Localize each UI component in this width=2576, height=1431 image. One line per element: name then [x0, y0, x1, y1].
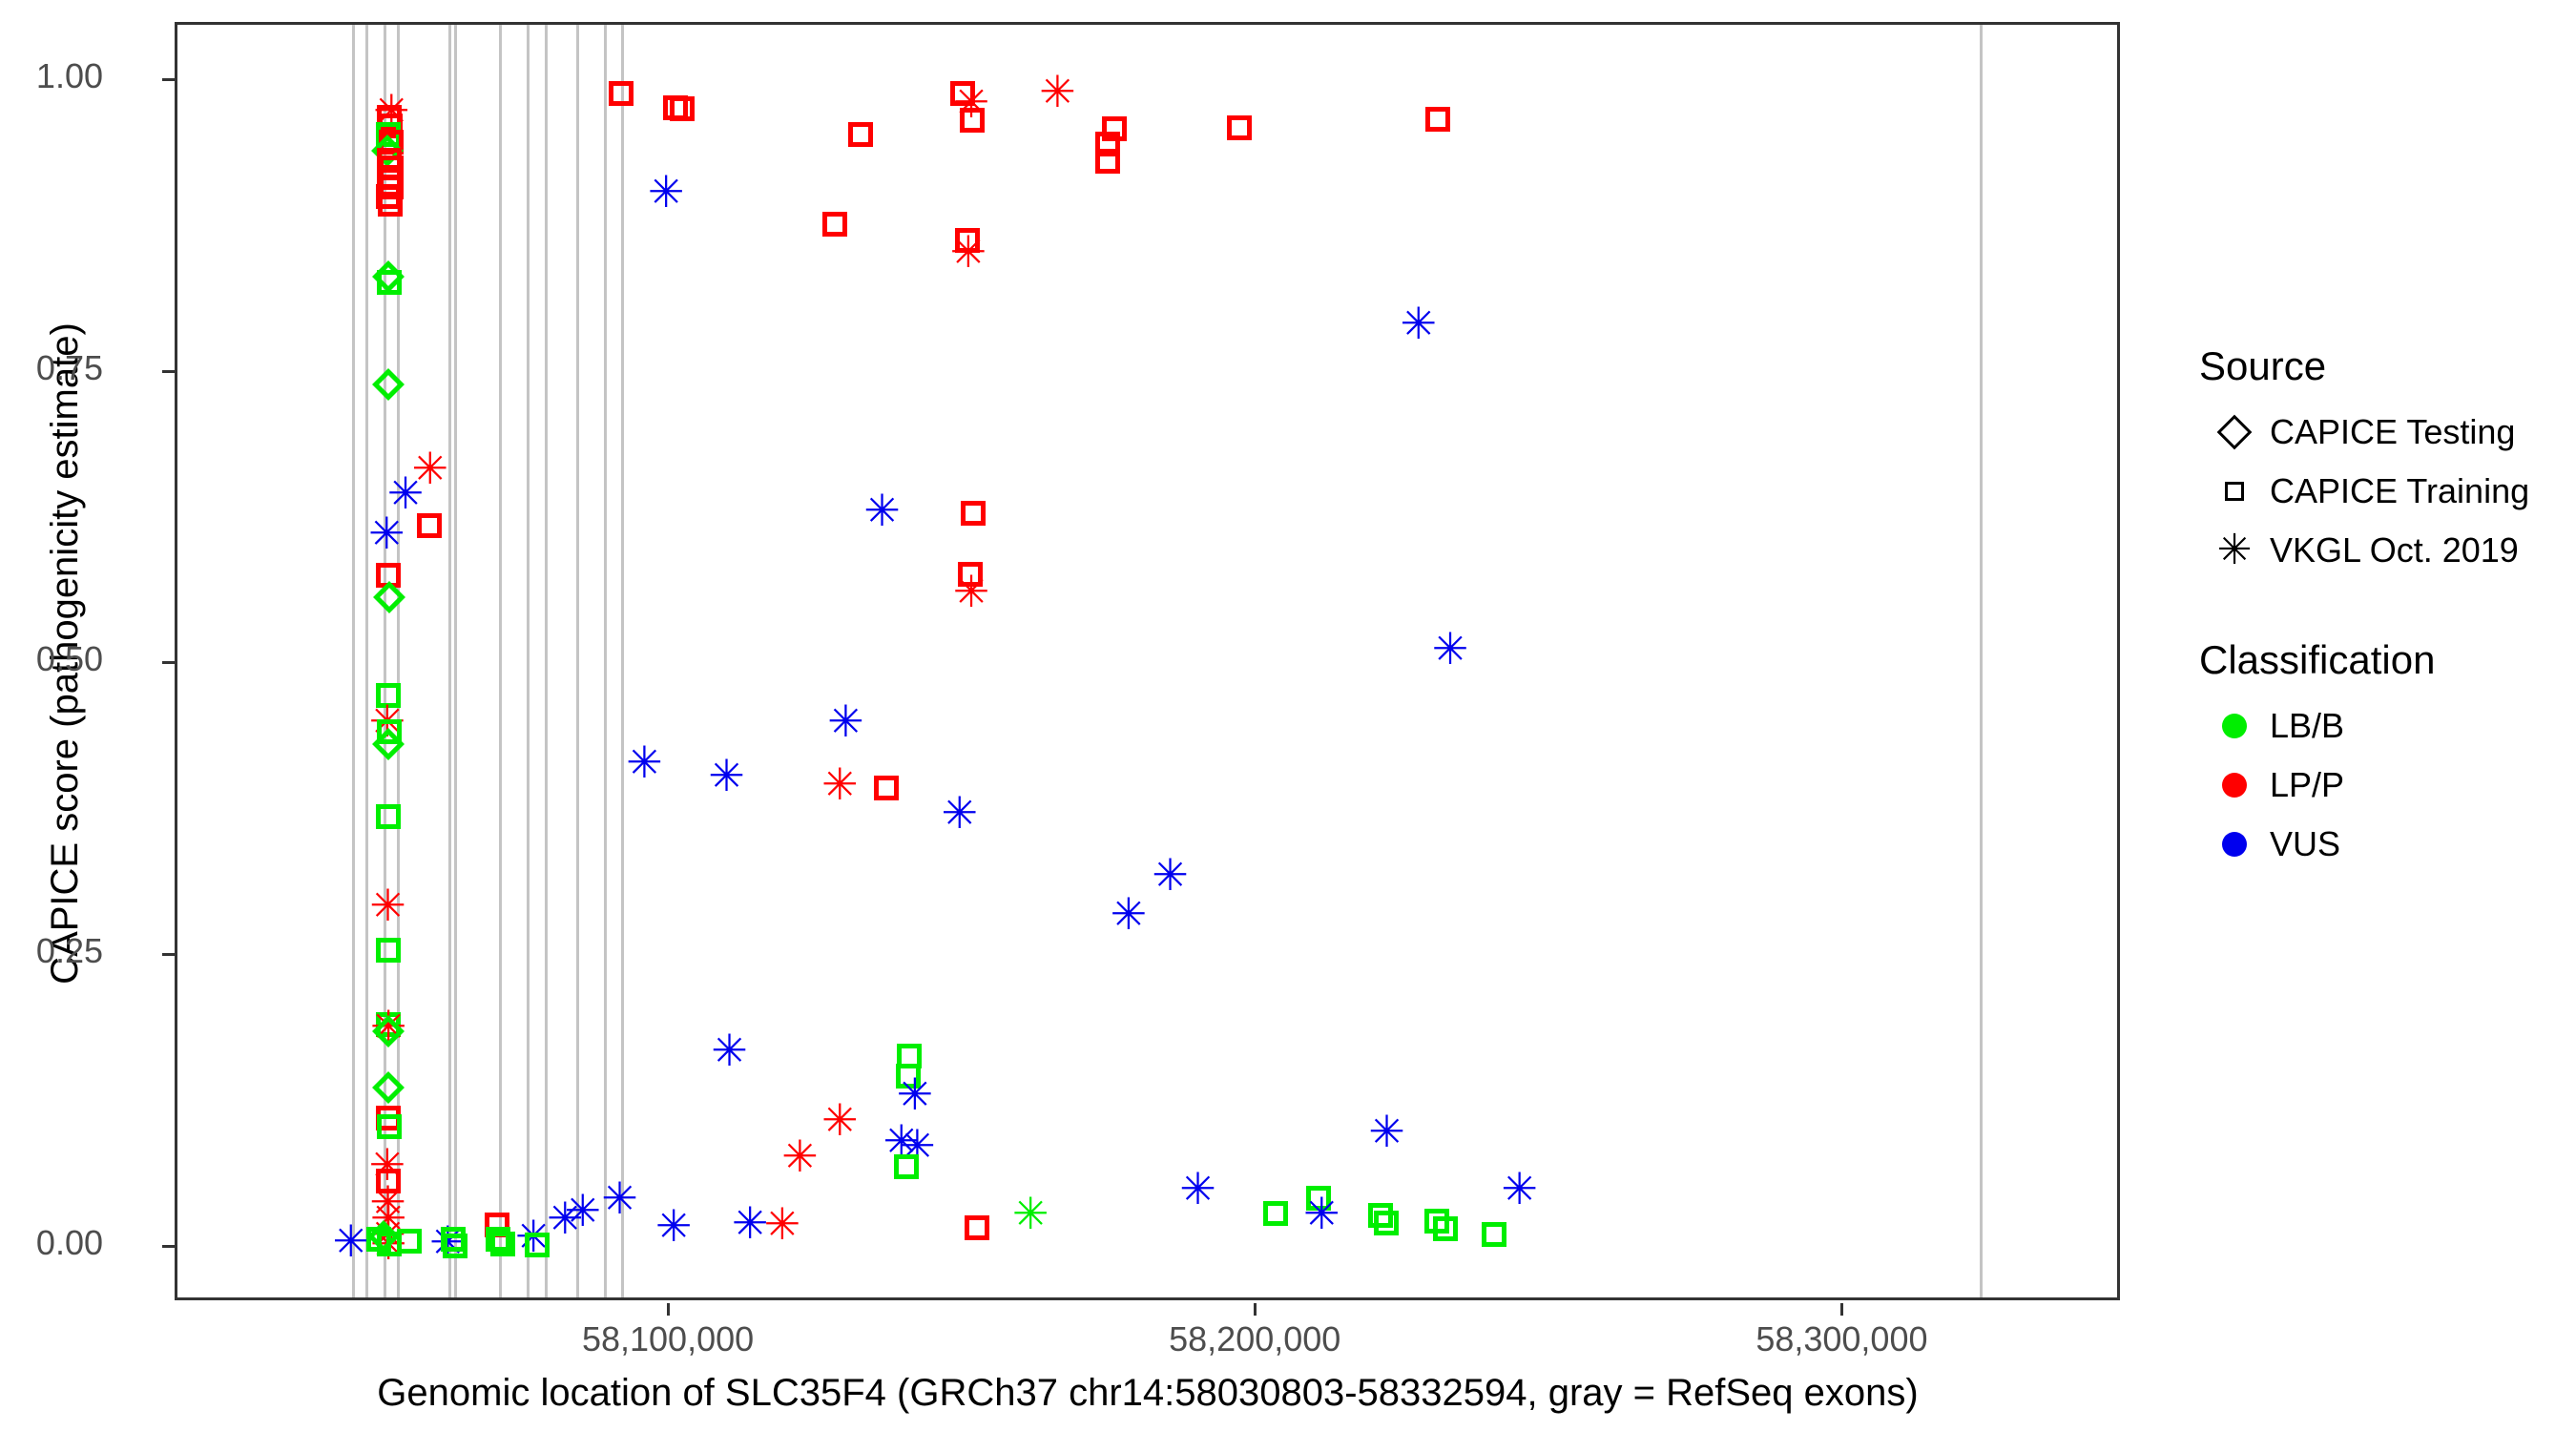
- point-marker-asterisk: ✳: [365, 699, 409, 743]
- exon-line: [604, 25, 607, 1297]
- point-marker-asterisk: ✳: [704, 754, 748, 798]
- y-tick-label: 0.75: [0, 348, 103, 388]
- point-marker-asterisk: ✳: [728, 1201, 772, 1245]
- point-marker-square: [896, 1064, 921, 1089]
- point-marker-asterisk: ✳: [364, 511, 408, 555]
- square-icon: [2225, 482, 2244, 501]
- point-marker-square: [670, 96, 695, 121]
- point-marker-asterisk: ✳: [1008, 1192, 1052, 1235]
- point-marker-square: [397, 1229, 422, 1254]
- point-marker-asterisk: ✳: [366, 1222, 410, 1266]
- point-marker-asterisk: ✳: [895, 1124, 939, 1168]
- point-marker-asterisk: ✳: [366, 883, 410, 927]
- legend-source-label: CAPICE Training: [2270, 471, 2529, 511]
- point-marker-asterisk: ✳: [938, 791, 982, 835]
- exon-line: [621, 25, 624, 1297]
- point-marker-diamond: [372, 728, 405, 760]
- point-marker-square: [1425, 107, 1450, 132]
- point-marker-square: [874, 776, 899, 800]
- y-tick-mark: [162, 370, 175, 373]
- point-marker-asterisk: ✳: [949, 80, 993, 124]
- y-tick-mark: [162, 1245, 175, 1248]
- x-axis-label: Genomic location of SLC35F4 (GRCh37 chr1…: [175, 1372, 2121, 1415]
- exon-line: [365, 25, 368, 1297]
- point-marker-asterisk: ✳: [818, 762, 862, 806]
- point-marker-diamond: [373, 581, 405, 613]
- point-marker-asterisk: ✳: [543, 1196, 587, 1240]
- point-marker-asterisk: ✳: [561, 1189, 605, 1233]
- exon-line: [576, 25, 579, 1297]
- point-marker-square: [1424, 1209, 1449, 1234]
- point-marker-asterisk: ✳: [949, 570, 993, 613]
- point-marker-square: [894, 1154, 919, 1179]
- legend-spacer: [2199, 580, 2571, 637]
- point-marker-square: [486, 1227, 510, 1252]
- point-marker-square: [965, 1215, 989, 1240]
- point-marker-asterisk: ✳: [1365, 1110, 1409, 1153]
- point-marker-asterisk: ✳: [861, 488, 904, 532]
- y-tick-mark: [162, 661, 175, 664]
- color-dot-icon: [2222, 714, 2247, 738]
- exon-line: [352, 25, 355, 1297]
- y-tick-label: 0.25: [0, 931, 103, 971]
- point-marker-asterisk: ✳: [1498, 1167, 1542, 1211]
- legend-item-source[interactable]: ✳VKGL Oct. 2019: [2199, 521, 2571, 580]
- point-marker-square: [1374, 1211, 1399, 1235]
- point-marker-square: [897, 1044, 922, 1068]
- point-marker-asterisk: ✳: [1397, 301, 1441, 345]
- point-marker-asterisk: ✳: [1428, 627, 1472, 671]
- point-marker-square: [848, 122, 873, 147]
- point-marker-asterisk: ✳: [366, 1005, 410, 1048]
- exon-line: [454, 25, 457, 1297]
- point-marker-asterisk: ✳: [1149, 853, 1193, 897]
- point-marker-asterisk: ✳: [1175, 1167, 1219, 1211]
- point-marker-asterisk: ✳: [366, 1196, 410, 1240]
- legend-source-label: CAPICE Testing: [2270, 412, 2515, 452]
- point-marker-asterisk: ✳: [823, 699, 867, 743]
- point-marker-square: [955, 228, 980, 253]
- point-marker-asterisk: ✳: [893, 1072, 937, 1116]
- point-marker-square: [960, 108, 985, 133]
- exon-line: [499, 25, 502, 1297]
- legend-title-classification: Classification: [2199, 637, 2571, 683]
- x-tick-label: 58,200,000: [1111, 1319, 1398, 1359]
- point-marker-square: [485, 1213, 509, 1237]
- point-marker-square: [1306, 1186, 1331, 1211]
- point-marker-diamond: [372, 260, 405, 293]
- point-marker-asterisk: ✳: [760, 1202, 804, 1246]
- chart-figure: CAPICE score (pathogenicity estimate) 0.…: [0, 0, 2576, 1431]
- point-marker-square: [822, 212, 847, 237]
- y-tick-label: 1.00: [0, 56, 103, 96]
- point-marker-asterisk: ✳: [384, 471, 427, 515]
- exon-line: [448, 25, 451, 1297]
- point-marker-asterisk: ✳: [652, 1204, 696, 1248]
- legend-title-source: Source: [2199, 343, 2571, 389]
- point-marker-asterisk: ✳: [1107, 892, 1151, 936]
- point-marker-square: [490, 1232, 515, 1256]
- exon-line: [397, 25, 400, 1297]
- y-tick-mark: [162, 953, 175, 956]
- point-marker-asterisk: ✳: [1035, 70, 1079, 114]
- legend: Source CAPICE TestingCAPICE Training✳VKG…: [2199, 343, 2571, 874]
- point-marker-square: [1102, 116, 1127, 141]
- point-marker-asterisk: ✳: [366, 1213, 410, 1256]
- legend-source-items: CAPICE TestingCAPICE Training✳VKGL Oct. …: [2199, 403, 2571, 580]
- point-marker-square: [417, 513, 442, 538]
- x-tick-label: 58,100,000: [525, 1319, 811, 1359]
- exon-line: [527, 25, 530, 1297]
- x-tick-mark: [1840, 1303, 1843, 1316]
- point-marker-square: [663, 95, 688, 120]
- point-marker-asterisk: ✳: [778, 1134, 821, 1178]
- point-marker-square: [961, 501, 986, 526]
- exon-line: [1980, 25, 1983, 1297]
- point-marker-asterisk: ✳: [818, 1098, 862, 1142]
- color-dot-icon: [2222, 773, 2247, 798]
- point-marker-square: [1263, 1201, 1288, 1226]
- legend-classification-items: LB/BLP/PVUS: [2199, 696, 2571, 874]
- y-tick-label: 0.00: [0, 1223, 103, 1263]
- x-tick-mark: [1254, 1303, 1257, 1316]
- point-marker-asterisk: ✳: [708, 1028, 752, 1072]
- legend-classification-label: LB/B: [2270, 706, 2344, 746]
- point-marker-square: [1227, 115, 1252, 140]
- asterisk-icon: ✳: [2217, 529, 2253, 571]
- color-dot-icon: [2222, 832, 2247, 857]
- legend-classification-label: VUS: [2270, 824, 2340, 864]
- legend-item-classification[interactable]: VUS: [2199, 815, 2571, 874]
- point-marker-square: [1433, 1216, 1458, 1241]
- point-marker-asterisk: ✳: [644, 170, 688, 214]
- exon-line: [384, 25, 386, 1297]
- y-tick-label: 0.50: [0, 639, 103, 679]
- point-marker-square: [366, 1227, 391, 1252]
- legend-source-label: VKGL Oct. 2019: [2270, 530, 2519, 570]
- diamond-icon: [2217, 415, 2253, 450]
- plot-panel: ✳✳✳✳✳✳✳✳✳✳✳✳✳✳✳✳✳✳✳✳✳✳✳✳✳✳✳✳✳✳✳✳✳✳✳✳✳✳✳✳…: [175, 22, 2120, 1300]
- point-marker-asterisk: ✳: [365, 1143, 409, 1187]
- point-marker-square: [1482, 1222, 1506, 1247]
- point-marker-asterisk: ✳: [880, 1119, 924, 1163]
- legend-item-source[interactable]: CAPICE Training: [2199, 462, 2571, 521]
- point-marker-asterisk: ✳: [366, 1180, 410, 1224]
- point-marker-asterisk: ✳: [408, 446, 452, 490]
- legend-item-source[interactable]: CAPICE Testing: [2199, 403, 2571, 462]
- y-tick-mark: [162, 78, 175, 81]
- exon-line: [545, 25, 548, 1297]
- point-marker-asterisk: ✳: [1299, 1192, 1343, 1235]
- point-marker-asterisk: ✳: [369, 89, 413, 133]
- legend-item-classification[interactable]: LP/P: [2199, 756, 2571, 815]
- point-marker-square: [950, 81, 975, 106]
- point-marker-asterisk: ✳: [622, 740, 666, 784]
- point-marker-square: [1095, 149, 1120, 174]
- point-marker-asterisk: ✳: [511, 1214, 555, 1258]
- legend-classification-label: LP/P: [2270, 765, 2344, 805]
- point-marker-square: [958, 562, 983, 587]
- point-marker-asterisk: ✳: [946, 230, 990, 274]
- point-marker-diamond: [372, 368, 405, 401]
- point-marker-square: [1095, 132, 1120, 156]
- point-marker-square: [1368, 1203, 1393, 1228]
- legend-item-classification[interactable]: LB/B: [2199, 696, 2571, 756]
- x-tick-label: 58,300,000: [1698, 1319, 1984, 1359]
- x-tick-mark: [667, 1303, 670, 1316]
